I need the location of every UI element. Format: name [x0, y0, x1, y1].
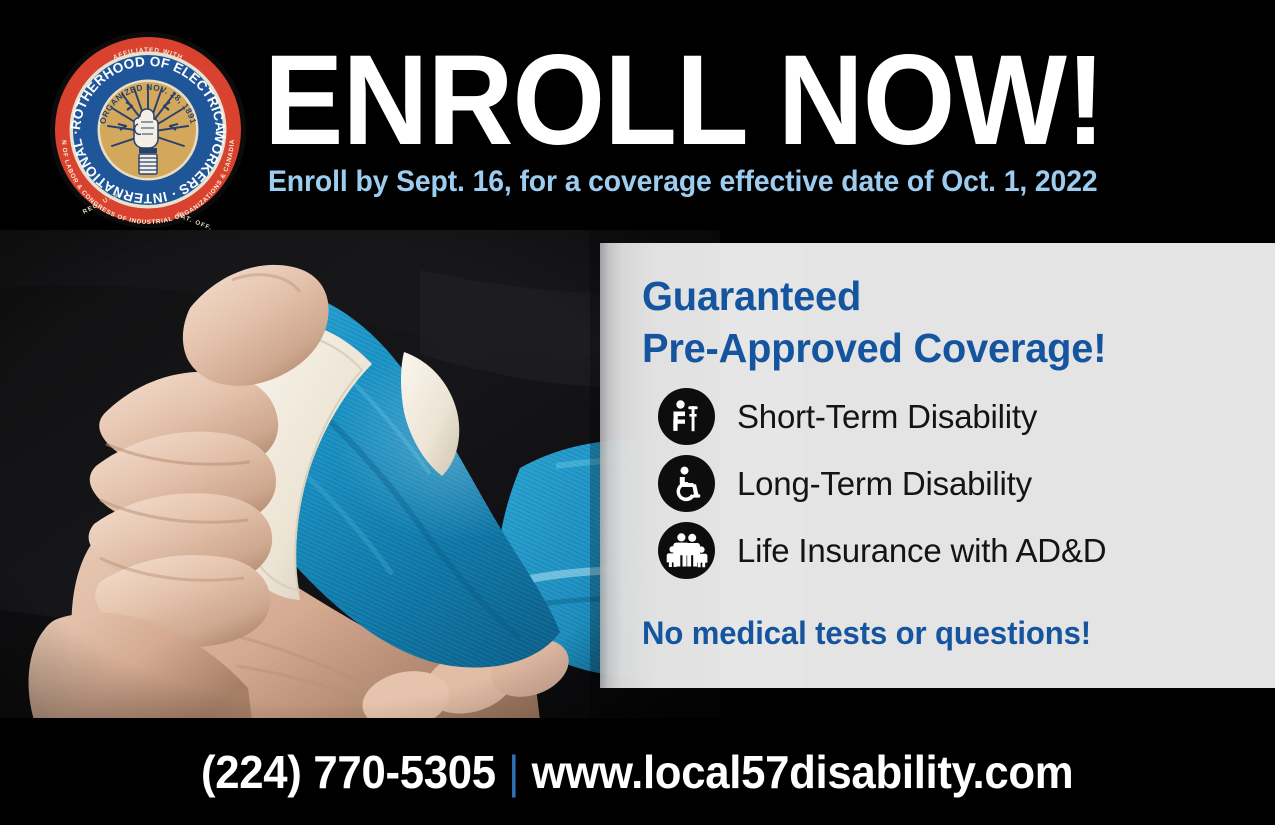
phone-number[interactable]: (224) 770-5305: [201, 745, 496, 799]
benefit-label: Life Insurance with AD&D: [737, 532, 1106, 570]
contact-footer: (224) 770-5305 | www.local57disability.c…: [0, 718, 1275, 825]
footer-separator: |: [509, 745, 520, 799]
benefit-label: Short-Term Disability: [737, 398, 1037, 436]
page-subtitle: Enroll by Sept. 16, for a coverage effec…: [268, 165, 1098, 199]
panel-heading-line1: Guaranteed: [642, 271, 1106, 323]
benefits-panel: Guaranteed Pre-Approved Coverage! Short-…: [600, 243, 1275, 688]
person-with-crutch-icon: [658, 388, 715, 445]
benefit-label: Long-Term Disability: [737, 465, 1032, 503]
wheelchair-icon: [658, 455, 715, 512]
website-url[interactable]: www.local57disability.com: [532, 745, 1074, 799]
panel-footnote: No medical tests or questions!: [642, 615, 1091, 652]
benefit-item-short-term-disability: Short-Term Disability: [658, 383, 1258, 450]
page-title: ENROLL NOW!: [264, 36, 1105, 167]
family-icon: [658, 522, 715, 579]
benefits-list: Short-Term Disability Long-Term Disabili…: [658, 383, 1258, 584]
panel-heading-line2: Pre-Approved Coverage!: [642, 323, 1106, 375]
ibew-logo: AFFILIATED WITH AMERICAN FEDERATION OF L…: [48, 30, 248, 230]
panel-heading: Guaranteed Pre-Approved Coverage!: [642, 271, 1106, 374]
benefit-item-life-insurance: Life Insurance with AD&D: [658, 517, 1258, 584]
enrollment-advertisement: Guaranteed Pre-Approved Coverage! Short-…: [0, 0, 1275, 825]
benefit-item-long-term-disability: Long-Term Disability: [658, 450, 1258, 517]
